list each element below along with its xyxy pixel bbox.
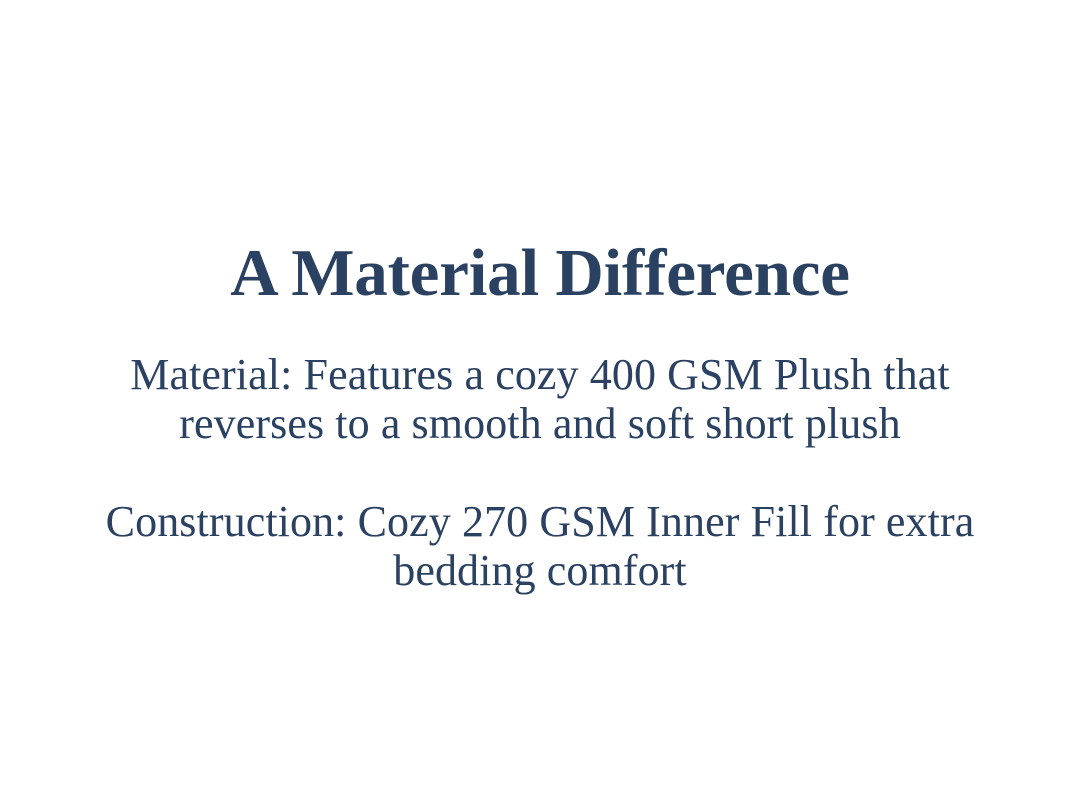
slide-canvas: A Material Difference Material: Features… [0,0,1080,800]
material-paragraph: Material: Features a cozy 400 GSM Plush … [90,350,990,448]
slide-body: Material: Features a cozy 400 GSM Plush … [90,350,990,595]
paragraph-spacer [90,448,990,497]
page-title: A Material Difference [40,234,1040,312]
construction-paragraph: Construction: Cozy 270 GSM Inner Fill fo… [90,497,990,595]
